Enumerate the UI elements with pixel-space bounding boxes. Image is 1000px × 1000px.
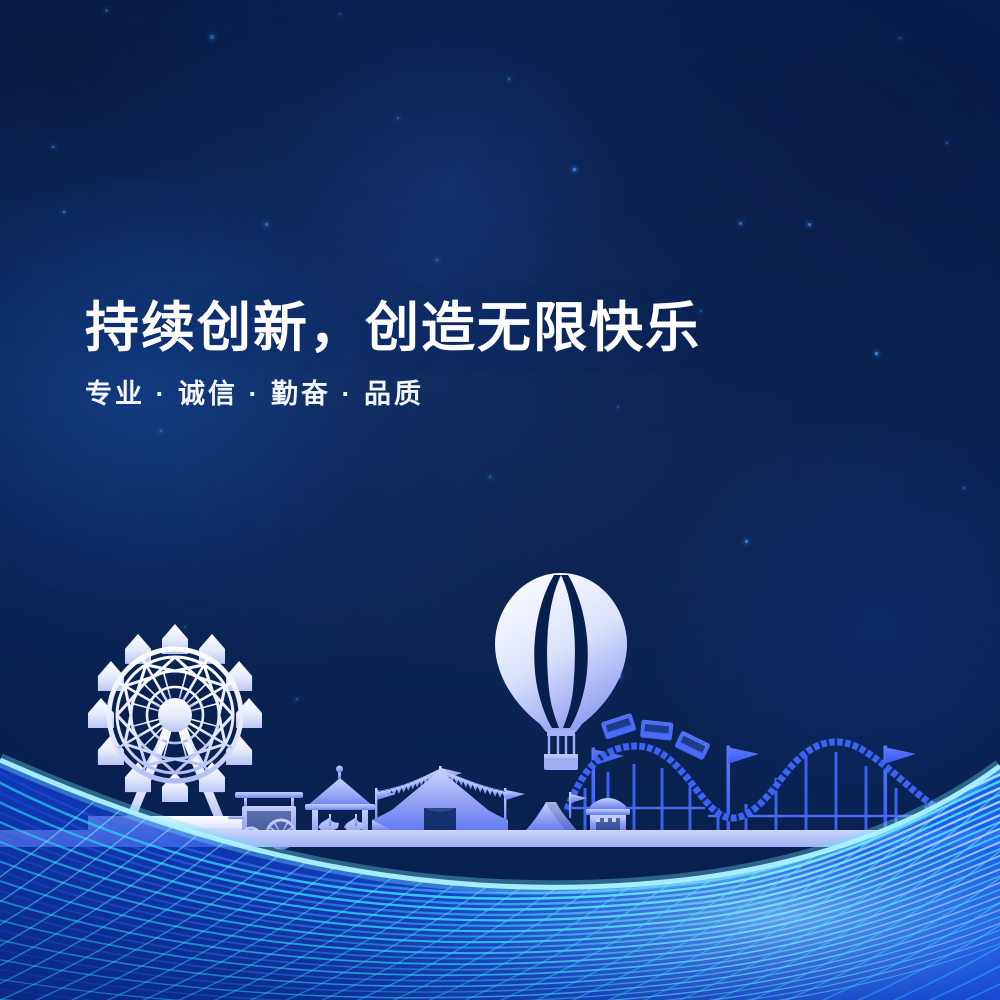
star-dot bbox=[875, 352, 878, 355]
star-dot bbox=[899, 37, 901, 39]
star-dot bbox=[508, 78, 510, 80]
star-dot bbox=[739, 222, 742, 225]
star-dot bbox=[808, 223, 811, 226]
star-dot bbox=[397, 117, 399, 119]
star-dot bbox=[339, 13, 341, 15]
star-dot bbox=[105, 9, 108, 12]
star-dot bbox=[160, 430, 162, 432]
star-dot bbox=[963, 487, 965, 489]
page-subtitle: 专业 · 诚信 · 勤奋 · 品质 bbox=[85, 372, 424, 411]
page-title: 持续创新，创造无限快乐 bbox=[85, 298, 701, 358]
star-dot bbox=[617, 406, 619, 408]
star-dot bbox=[210, 35, 214, 39]
glowing-wave-mesh bbox=[0, 700, 1000, 1000]
star-dot bbox=[52, 146, 54, 148]
star-dot bbox=[63, 211, 65, 213]
promo-banner: 持续创新，创造无限快乐 专业 · 诚信 · 勤奋 · 品质 bbox=[0, 0, 1000, 1000]
star-dot bbox=[946, 142, 948, 144]
star-dot bbox=[265, 223, 268, 226]
star-dot bbox=[436, 259, 438, 261]
star-dot bbox=[573, 168, 576, 171]
star-dot bbox=[489, 476, 491, 478]
